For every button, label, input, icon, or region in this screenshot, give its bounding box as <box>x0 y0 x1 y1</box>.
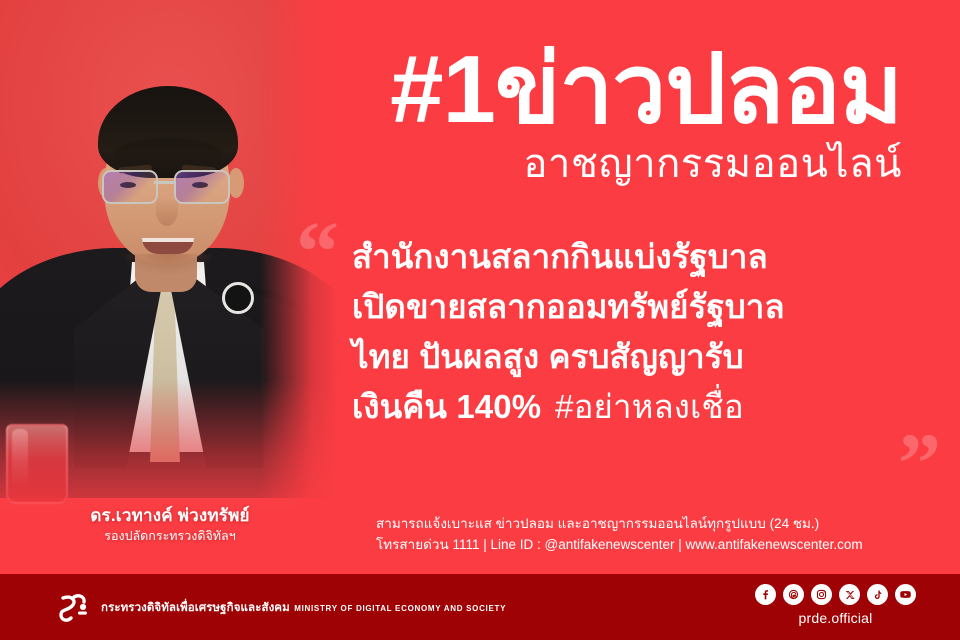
quote-line-last: เงินคืน 140%#อย่าหลงเชื่อ <box>352 382 897 432</box>
facebook-icon[interactable] <box>755 584 776 605</box>
contact-line-2: โทรสายด่วน 1111 | Line ID : @antifakenew… <box>376 534 863 555</box>
quote-line: ไทย ปันผลสูง ครบสัญญารับ <box>352 332 897 382</box>
ministry-brand: กระทรวงดิจิทัลเพื่อเศรษฐกิจและสังคม MINI… <box>52 587 506 627</box>
contact-info: สามารถแจ้งเบาะแส ข่าวปลอม และอาชญากรรมออ… <box>376 513 863 555</box>
quote-line-text: เงินคืน 140% <box>352 388 541 425</box>
headline: #1ข่าวปลอม อาชญากรรมออนไลน์ <box>242 42 902 188</box>
youtube-icon[interactable] <box>895 584 916 605</box>
speaker-role: รองปลัดกระทรวงดิจิทัลฯ <box>0 527 340 546</box>
quote-open-icon: “ <box>296 216 339 286</box>
fake-news-quote: “ ” สำนักงานสลากกินแบ่งรัฐบาล เปิดขายสลา… <box>352 232 897 432</box>
quote-text: สำนักงานสลากกินแบ่งรัฐบาล เปิดขายสลากออม… <box>352 232 897 432</box>
ministry-name-th: กระทรวงดิจิทัลเพื่อเศรษฐกิจและสังคม <box>101 602 290 614</box>
microphone-head <box>222 282 254 314</box>
chin-shadow <box>120 254 216 276</box>
social-links: prde.official <box>755 584 916 628</box>
social-handle: prde.official <box>755 608 916 628</box>
mouth <box>142 238 194 254</box>
quote-line: เปิดขายสลากออมทรัพย์รัฐบาล <box>352 282 897 332</box>
headline-sub: อาชญากรรมออนไลน์ <box>242 140 902 188</box>
hair <box>98 86 238 178</box>
contact-line-1: สามารถแจ้งเบาะแส ข่าวปลอม และอาชญากรรมออ… <box>376 513 863 534</box>
ministry-brand-text: กระทรวงดิจิทัลเพื่อเศรษฐกิจและสังคม MINI… <box>101 598 506 616</box>
headline-main: #1ข่าวปลอม <box>242 42 902 138</box>
quote-line: สำนักงานสลากกินแบ่งรัฐบาล <box>352 232 897 282</box>
lens-left <box>102 170 158 204</box>
nose <box>156 196 178 226</box>
lens-right <box>174 170 230 204</box>
quote-hashtag: #อย่าหลงเชื่อ <box>555 388 744 425</box>
poster-canvas: ดร.เวทางค์ พ่วงทรัพย์ รองปลัดกระทรวงดิจิ… <box>0 0 960 640</box>
ministry-name-en: MINISTRY OF DIGITAL ECONOMY AND SOCIETY <box>294 604 506 613</box>
instagram-icon[interactable] <box>811 584 832 605</box>
speaker-name: ดร.เวทางค์ พ่วงทรัพย์ <box>0 505 340 527</box>
ministry-logo-icon <box>52 587 92 627</box>
footer-bar: กระทรวงดิจิทัลเพื่อเศรษฐกิจและสังคม MINI… <box>0 574 960 640</box>
x-icon[interactable] <box>839 584 860 605</box>
glasses-bridge <box>154 181 176 184</box>
threads-icon[interactable] <box>783 584 804 605</box>
tiktok-icon[interactable] <box>867 584 888 605</box>
quote-close-icon: ” <box>898 428 941 498</box>
speaker-caption: ดร.เวทางค์ พ่วงทรัพย์ รองปลัดกระทรวงดิจิ… <box>0 505 340 546</box>
social-icon-row <box>755 584 916 605</box>
